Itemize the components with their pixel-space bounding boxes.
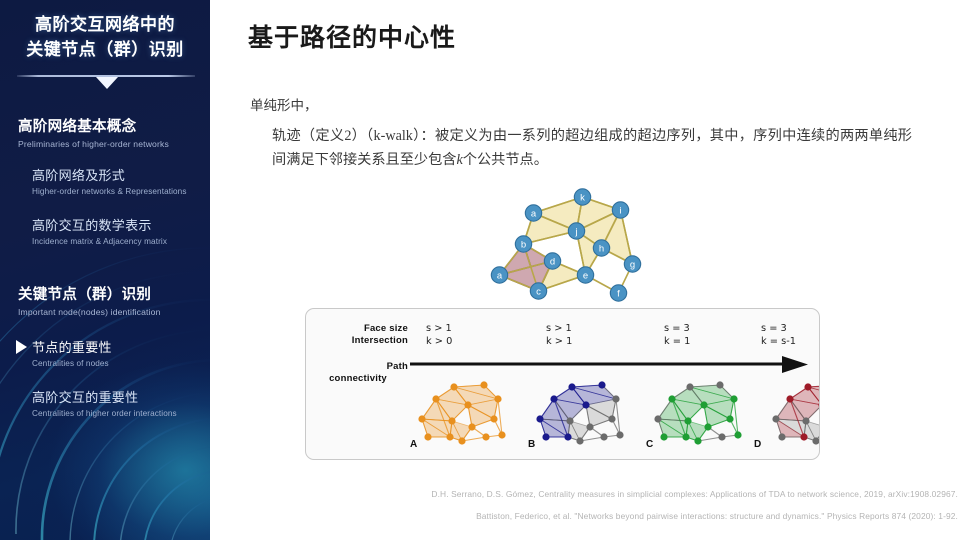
panel-node xyxy=(616,431,623,438)
graph-node: d xyxy=(544,253,560,269)
panel-edge xyxy=(462,437,486,441)
panel-node xyxy=(694,437,701,444)
sidebar-item-label-en: Centralities of nodes xyxy=(32,359,112,368)
panel-node xyxy=(586,423,593,430)
sidebar-item-label-en: Higher-order networks & Representations xyxy=(32,187,187,196)
sidebar-group-title-cn: 关键节点（群）识别 xyxy=(18,283,161,304)
column-A-intersection: k > 0 xyxy=(426,335,452,348)
sidebar-item-math-representation[interactable]: 高阶交互的数学表示 Incidence matrix & Adjacency m… xyxy=(32,215,167,246)
graph-node: i xyxy=(612,202,628,218)
panel-node xyxy=(716,381,723,388)
panel-node xyxy=(448,417,455,424)
panel-node xyxy=(482,433,489,440)
sidebar-group-important-nodes[interactable]: 关键节点（群）识别 Important node(nodes) identifi… xyxy=(18,283,161,317)
panel-node xyxy=(668,395,675,402)
graph-node-label: i xyxy=(619,206,621,217)
column-D-conditions: s = 3 k = s-1 xyxy=(761,322,796,348)
panel-node xyxy=(730,395,737,402)
column-D-intersection: k = s-1 xyxy=(761,335,796,348)
panel-node xyxy=(660,433,667,440)
column-D-face-size: s = 3 xyxy=(761,322,796,335)
panel-node xyxy=(566,417,573,424)
column-B-conditions: s > 1 k > 1 xyxy=(546,322,572,348)
path-connectivity-figure: Face size Intersection s > 1 k > 0 s > 1… xyxy=(305,308,820,460)
panel-node xyxy=(450,383,457,390)
graph-node-label: g xyxy=(630,260,635,271)
graph-node: g xyxy=(624,256,640,272)
panel-node xyxy=(480,381,487,388)
graph-node: c xyxy=(530,283,546,299)
graph-node-label: h xyxy=(599,244,604,255)
citation-line-1: D.H. Serrano, D.S. Gómez, Centrality mea… xyxy=(431,489,958,499)
panel-node xyxy=(464,401,471,408)
graph-node-label: e xyxy=(583,271,588,282)
panel-letter-B: B xyxy=(528,439,535,450)
panel-edge xyxy=(698,437,722,441)
panel-node xyxy=(608,415,615,422)
column-C-conditions: s = 3 k = 1 xyxy=(664,322,690,348)
graph-node-label: c xyxy=(536,287,541,298)
panel-node xyxy=(432,395,439,402)
panel-node xyxy=(598,381,605,388)
panel-node xyxy=(704,423,711,430)
sidebar-group-title-en: Important node(nodes) identification xyxy=(18,307,161,317)
panel-edge xyxy=(580,437,604,441)
panel-node xyxy=(786,395,793,402)
panel-node xyxy=(802,417,809,424)
sidebar-title-line1: 高阶交互网络中的 xyxy=(0,12,210,37)
sidebar-item-centralities-of-nodes[interactable]: 节点的重要性 Centralities of nodes xyxy=(32,337,112,368)
graph-node-label: b xyxy=(521,240,526,251)
panel-node xyxy=(490,415,497,422)
panel-node xyxy=(804,383,811,390)
sidebar-title-line2: 关键节点（群）识别 xyxy=(0,37,210,62)
simplicial-complex-svg: akijhbgdeacf xyxy=(468,183,668,308)
panel-node xyxy=(800,433,807,440)
panel-node xyxy=(568,383,575,390)
graph-node: e xyxy=(577,267,593,283)
column-A-conditions: s > 1 k > 0 xyxy=(426,322,452,348)
label-face-size: Face size xyxy=(316,323,408,334)
main-content: 基于路径的中心性 单纯形中， 轨迹（定义2）（k-walk）：被定义为由一系列的… xyxy=(210,0,960,540)
definition-suffix: 个公共节点。 xyxy=(463,152,548,168)
panel-node xyxy=(468,423,475,430)
triangle-down-icon xyxy=(96,77,118,89)
panel-node xyxy=(494,395,501,402)
graph-node: j xyxy=(568,223,584,239)
panel-node xyxy=(718,433,725,440)
panel-edge xyxy=(616,399,620,435)
column-A-face-size: s > 1 xyxy=(426,322,452,335)
panel-node xyxy=(564,433,571,440)
simplicial-complex-figure: akijhbgdeacf xyxy=(468,183,668,308)
label-path: Path xyxy=(324,361,408,372)
panel-node xyxy=(778,433,785,440)
page-title: 基于路径的中心性 xyxy=(248,18,456,54)
panel-node xyxy=(446,433,453,440)
panel-edge xyxy=(734,399,738,435)
graph-node-label: a xyxy=(497,271,503,282)
graph-node: a xyxy=(491,267,507,283)
panel-node xyxy=(682,433,689,440)
sidebar-group-title-en: Preliminaries of higher-order networks xyxy=(18,139,169,149)
sidebar-item-label-cn: 高阶网络及形式 xyxy=(32,165,187,184)
panel-node xyxy=(576,437,583,444)
panel-node xyxy=(536,415,543,422)
column-C-intersection: k = 1 xyxy=(664,335,690,348)
sidebar-group-preliminaries[interactable]: 高阶网络基本概念 Preliminaries of higher-order n… xyxy=(18,115,169,149)
panel-node xyxy=(734,431,741,438)
sidebar-group-title-cn: 高阶网络基本概念 xyxy=(18,115,169,136)
active-marker-triangle-right-icon xyxy=(16,340,27,354)
panel-node xyxy=(542,433,549,440)
panel-node xyxy=(612,395,619,402)
panel-node xyxy=(424,433,431,440)
graph-node-label: a xyxy=(531,209,537,220)
graph-node: h xyxy=(593,240,609,256)
sidebar-item-label-en: Centralities of higher order interaction… xyxy=(32,409,177,418)
graph-node: a xyxy=(525,205,541,221)
panel-A-network xyxy=(418,381,505,444)
graph-node: b xyxy=(515,236,531,252)
panel-node xyxy=(550,395,557,402)
panel-node xyxy=(700,401,707,408)
column-B-face-size: s > 1 xyxy=(546,322,572,335)
panel-node xyxy=(684,417,691,424)
four-network-panels-svg xyxy=(306,375,820,445)
panel-node xyxy=(458,437,465,444)
panel-node xyxy=(686,383,693,390)
column-C-face-size: s = 3 xyxy=(664,322,690,335)
panel-node xyxy=(582,401,589,408)
panel-letter-C: C xyxy=(646,439,653,450)
sidebar-item-label-en: Incidence matrix & Adjacency matrix xyxy=(32,237,167,246)
panel-node xyxy=(812,437,819,444)
sidebar-item-label-cn: 节点的重要性 xyxy=(32,337,112,356)
body-lead-text: 单纯形中， xyxy=(250,94,318,114)
definition-paragraph: 轨迹（定义2）（k-walk）：被定义为由一系列的超边组成的超边序列，其中，序列… xyxy=(272,124,912,172)
sidebar-item-centralities-higher-order[interactable]: 高阶交互的重要性 Centralities of higher order in… xyxy=(32,387,177,418)
panel-node xyxy=(418,415,425,422)
panel-letter-D: D xyxy=(754,439,761,450)
panel-node xyxy=(726,415,733,422)
sidebar-item-label-cn: 高阶交互的数学表示 xyxy=(32,215,167,234)
graph-node-label: j xyxy=(574,227,577,238)
panel-node xyxy=(654,415,661,422)
panel-node xyxy=(600,433,607,440)
panel-C-network xyxy=(654,381,741,444)
panel-node xyxy=(772,415,779,422)
panel-edge xyxy=(498,399,502,435)
graph-node-label: f xyxy=(617,289,620,300)
graph-node: f xyxy=(610,285,626,301)
sidebar: 高阶交互网络中的 关键节点（群）识别 高阶网络基本概念 Preliminarie… xyxy=(0,0,210,540)
panel-letter-A: A xyxy=(410,439,417,450)
sidebar-item-higher-order-networks[interactable]: 高阶网络及形式 Higher-order networks & Represen… xyxy=(32,165,187,196)
panel-D-network xyxy=(772,381,820,444)
right-arrow-icon xyxy=(410,355,810,377)
slide-root: 高阶交互网络中的 关键节点（群）识别 高阶网络基本概念 Preliminarie… xyxy=(0,0,960,540)
sidebar-title: 高阶交互网络中的 关键节点（群）识别 xyxy=(0,12,210,62)
graph-node: k xyxy=(574,189,590,205)
panel-node xyxy=(498,431,505,438)
graph-node-label: d xyxy=(550,257,555,268)
sidebar-item-label-cn: 高阶交互的重要性 xyxy=(32,387,177,406)
column-B-intersection: k > 1 xyxy=(546,335,572,348)
label-intersection: Intersection xyxy=(310,335,408,346)
definition-prefix: 轨迹（定义2）（k-walk）：被定义为由一系列的超边组成的超边序列，其中，序列… xyxy=(272,128,912,168)
panel-B-network xyxy=(536,381,623,444)
graph-node-label: k xyxy=(580,193,585,204)
citation-line-2: Battiston, Federico, et al. "Networks be… xyxy=(476,511,958,521)
